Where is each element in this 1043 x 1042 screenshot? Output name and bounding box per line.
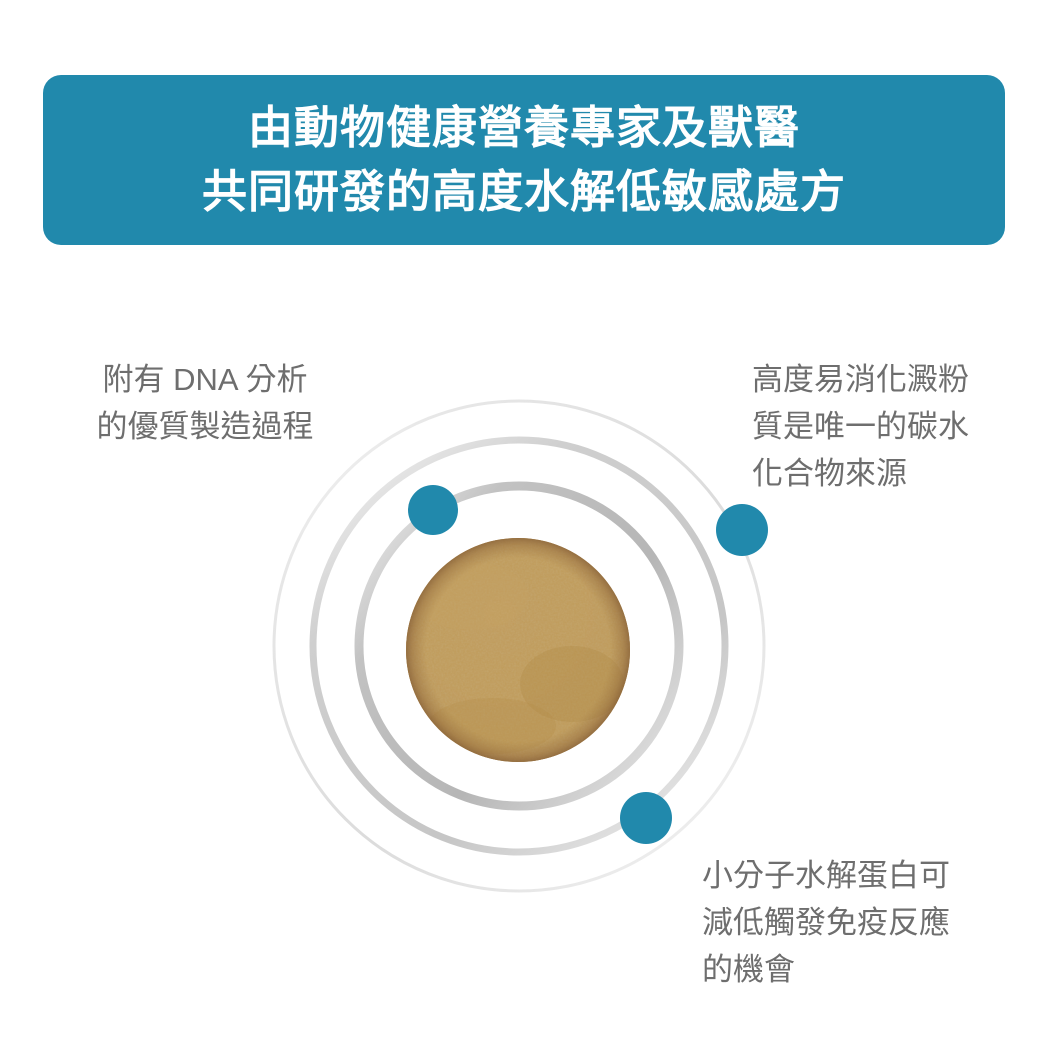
kibble-image [400, 532, 640, 772]
banner-headline-line-1: 由動物健康營養專家及獸醫 [248, 96, 800, 160]
node-dot-starch [716, 504, 768, 556]
callout-hydrolysed-protein: 小分子水解蛋白可 減低觸發免疫反應 的機會 [702, 852, 950, 993]
orbit-ring-inner [359, 486, 679, 806]
callout-process-line-2: 的優質製造過程 [74, 403, 336, 450]
callout-starch-line-2: 質是唯一的碳水 [752, 403, 969, 450]
callout-protein-line-2: 減低觸發免疫反應 [702, 899, 950, 946]
callout-starch-line-1: 高度易消化澱粉 [752, 356, 969, 403]
node-dot-process [408, 485, 458, 535]
node-dot-protein [620, 792, 672, 844]
banner-headline-line-2: 共同研發的高度水解低敏感處方 [202, 160, 846, 224]
callout-manufacturing-process: 附有 DNA 分析 的優質製造過程 [74, 356, 336, 450]
callout-starch-line-3: 化合物來源 [752, 450, 969, 497]
infographic-canvas: 由動物健康營養專家及獸醫 共同研發的高度水解低敏感處方 [0, 0, 1043, 1042]
orbit-ring-middle [313, 440, 725, 852]
callout-protein-line-1: 小分子水解蛋白可 [702, 852, 950, 899]
callout-digestible-starch: 高度易消化澱粉 質是唯一的碳水 化合物來源 [752, 356, 969, 497]
callout-protein-line-3: 的機會 [702, 946, 950, 993]
callout-process-line-1: 附有 DNA 分析 [74, 356, 336, 403]
orbit-ring-outer [274, 401, 764, 891]
header-banner: 由動物健康營養專家及獸醫 共同研發的高度水解低敏感處方 [43, 75, 1005, 245]
